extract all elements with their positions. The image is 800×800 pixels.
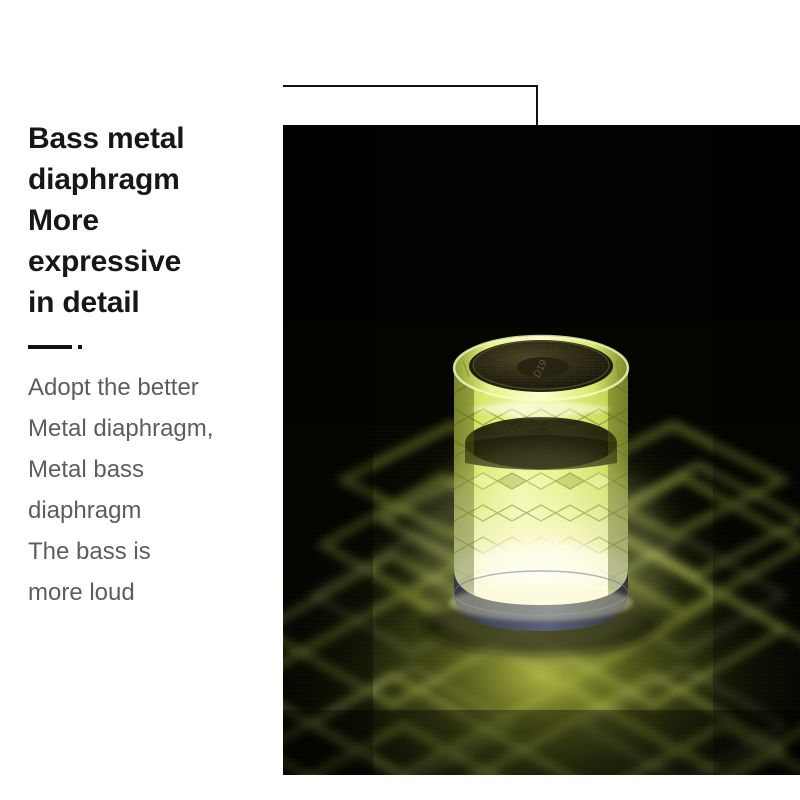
vignette-left <box>283 125 373 775</box>
product-photo-illustration: D19 <box>283 125 800 775</box>
headline-line: in detail <box>28 282 278 323</box>
product-feature-banner: Bass metal diaphragm More expressive in … <box>0 0 800 800</box>
product-photo: D19 <box>283 125 800 775</box>
headline-line: expressive <box>28 241 278 282</box>
page-title: Bass metal diaphragm More expressive in … <box>28 118 278 323</box>
body-text-line: Adopt the better <box>28 367 278 408</box>
body-text-line: The bass is <box>28 531 278 572</box>
headline-line: Bass metal <box>28 118 278 159</box>
body-text-line: Metal bass <box>28 449 278 490</box>
divider <box>28 341 278 353</box>
divider-rule <box>28 345 72 349</box>
speaker-bloom <box>413 445 669 665</box>
body-text: Adopt the better Metal diaphragm, Metal … <box>28 367 278 613</box>
headline-line: diaphragm <box>28 159 278 200</box>
body-text-line: Metal diaphragm, <box>28 408 278 449</box>
vignette-right <box>713 125 800 775</box>
divider-dot-icon <box>78 345 82 349</box>
text-panel: Bass metal diaphragm More expressive in … <box>28 118 278 613</box>
body-text-line: more loud <box>28 572 278 613</box>
body-text-line: diaphragm <box>28 490 278 531</box>
headline-line: More <box>28 200 278 241</box>
vignette-bottom <box>283 710 800 775</box>
